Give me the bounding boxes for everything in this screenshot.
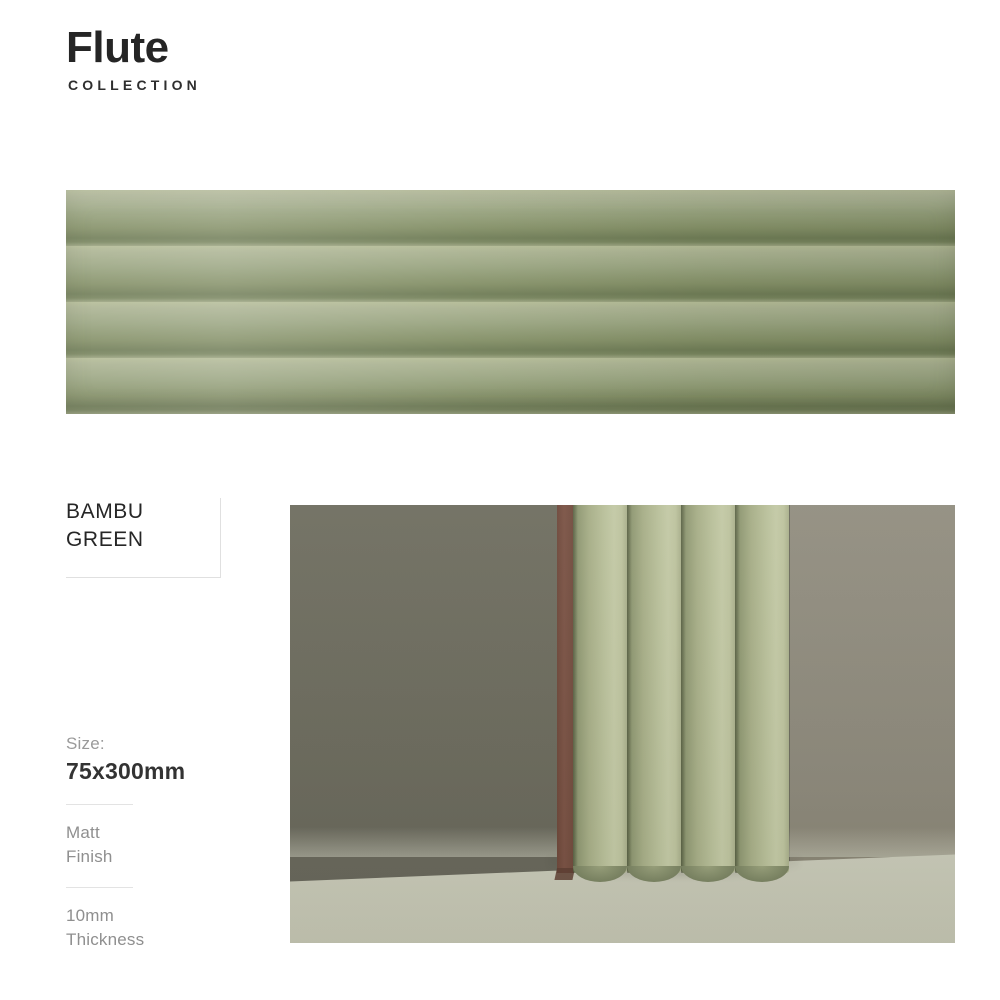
- spec-item-finish: Matt Finish: [66, 821, 256, 869]
- tile-flute: [627, 505, 681, 873]
- colour-name-card: BAMBU GREEN: [66, 498, 221, 578]
- brand-logo: Flute COLLECTION: [66, 26, 486, 92]
- spec-finish-text: Matt Finish: [66, 821, 256, 869]
- swatch-vignette-overlay: [66, 190, 955, 414]
- product-spec-sheet: Flute COLLECTION BAMBU GREEN Size: 75x30…: [0, 0, 1000, 1000]
- tile-body-edge: [557, 505, 573, 873]
- spec-divider: [66, 804, 133, 805]
- tile-flute: [573, 505, 627, 873]
- spec-divider: [66, 887, 133, 888]
- fluted-texture-swatch: [66, 190, 955, 414]
- spec-item-thickness: 10mm Thickness: [66, 904, 256, 952]
- specification-list: Size: 75x300mm Matt Finish 10mm Thicknes…: [66, 732, 256, 952]
- colour-name: BAMBU GREEN: [66, 498, 220, 554]
- brand-subtitle: COLLECTION: [68, 78, 486, 92]
- tile-flute: [681, 505, 735, 873]
- spec-thickness-text: 10mm Thickness: [66, 904, 256, 952]
- flute-groove-shadow: [681, 505, 686, 873]
- flute-groove-shadow: [627, 505, 632, 873]
- spec-item-size: Size: 75x300mm: [66, 732, 256, 786]
- swatch-sheen-overlay: [66, 190, 955, 414]
- flute-groove-shadow: [735, 505, 740, 873]
- spec-size-value: 75x300mm: [66, 756, 256, 786]
- brand-name: Flute: [66, 26, 486, 70]
- flute-groove-shadow: [573, 505, 578, 873]
- tile-edge-base: [554, 868, 575, 880]
- tile-flute-group: [573, 505, 790, 873]
- tile-flute: [735, 505, 789, 873]
- spec-size-label: Size:: [66, 732, 256, 756]
- fluted-tile: [557, 505, 790, 873]
- product-photograph: [290, 505, 955, 943]
